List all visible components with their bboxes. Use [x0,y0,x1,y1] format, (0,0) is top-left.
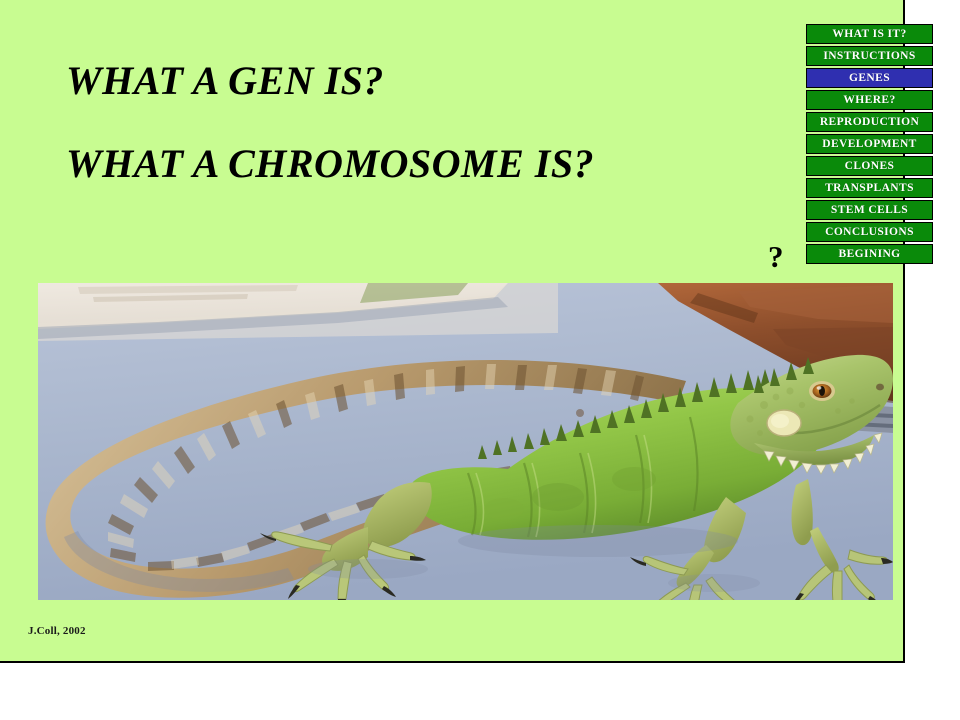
nav-item-clones[interactable]: CLONES [806,156,933,176]
nav-item-development[interactable]: DEVELOPMENT [806,134,933,154]
page-title-line-1: WHAT A GEN IS? [66,57,384,104]
question-mark-glyph: ? [768,239,784,275]
nav-item-where[interactable]: WHERE? [806,90,933,110]
nav-item-conclusions[interactable]: CONCLUSIONS [806,222,933,242]
nav-item-transplants[interactable]: TRANSPLANTS [806,178,933,198]
page-title-line-2: WHAT A CHROMOSOME IS? [66,140,594,187]
footer-credit: J.Coll, 2002 [28,625,86,637]
slide-canvas: WHAT A GEN IS? WHAT A CHROMOSOME IS? ? [0,0,905,663]
nav-item-what-is-it[interactable]: WHAT IS IT? [806,24,933,44]
iguana-photo [38,283,893,600]
slide-stage: WHAT A GEN IS? WHAT A CHROMOSOME IS? ? [0,0,960,720]
nav-item-begining[interactable]: BEGINING [806,244,933,264]
nav-item-stem-cells[interactable]: STEM CELLS [806,200,933,220]
nav-item-instructions[interactable]: INSTRUCTIONS [806,46,933,66]
nav-item-genes[interactable]: GENES [806,68,933,88]
navigation-menu: WHAT IS IT? INSTRUCTIONS GENES WHERE? RE… [806,24,933,264]
nav-item-reproduction[interactable]: REPRODUCTION [806,112,933,132]
